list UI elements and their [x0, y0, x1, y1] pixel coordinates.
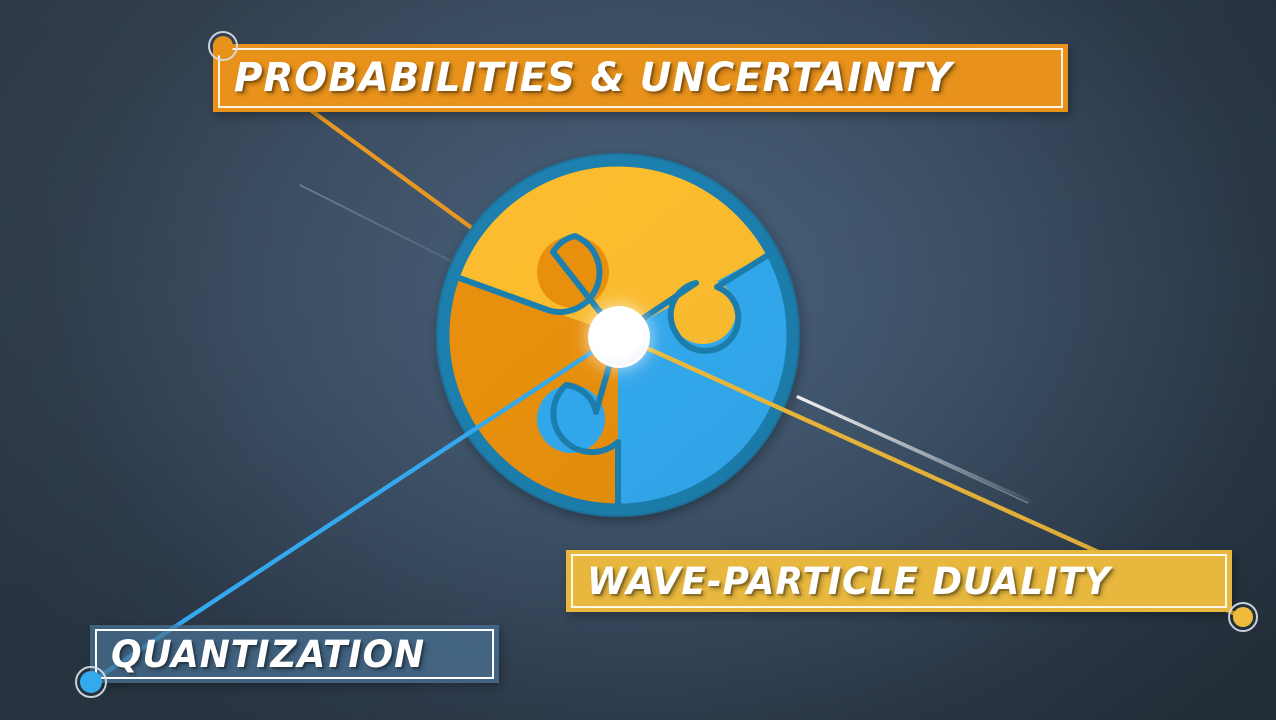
label-quantization-text: QUANTIZATION — [111, 636, 425, 673]
marker-probabilities[interactable] — [208, 31, 238, 61]
marker-quantization[interactable] — [75, 666, 107, 698]
label-wave-particle-text: WAVE-PARTICLE DUALITY — [587, 563, 1111, 600]
label-wave-particle-duality[interactable]: WAVE-PARTICLE DUALITY — [566, 550, 1232, 612]
marker-probabilities-ring — [208, 31, 238, 61]
label-quantization-border: QUANTIZATION — [95, 629, 494, 679]
marker-quantization-ring — [75, 666, 107, 698]
label-probabilities-uncertainty[interactable]: PROBABILITIES & UNCERTAINTY — [213, 44, 1068, 112]
label-wave-particle-border: WAVE-PARTICLE DUALITY — [571, 554, 1227, 608]
slide-canvas: PROBABILITIES & UNCERTAINTY WAVE-PARTICL… — [0, 0, 1276, 720]
marker-wave-particle[interactable] — [1228, 602, 1258, 632]
marker-wave-particle-ring — [1228, 602, 1258, 632]
label-quantization[interactable]: QUANTIZATION — [90, 625, 499, 683]
accent-streak-right — [798, 397, 1030, 503]
center-hub[interactable] — [588, 306, 650, 368]
label-probabilities-border: PROBABILITIES & UNCERTAINTY — [218, 48, 1063, 108]
label-probabilities-text: PROBABILITIES & UNCERTAINTY — [234, 58, 953, 98]
